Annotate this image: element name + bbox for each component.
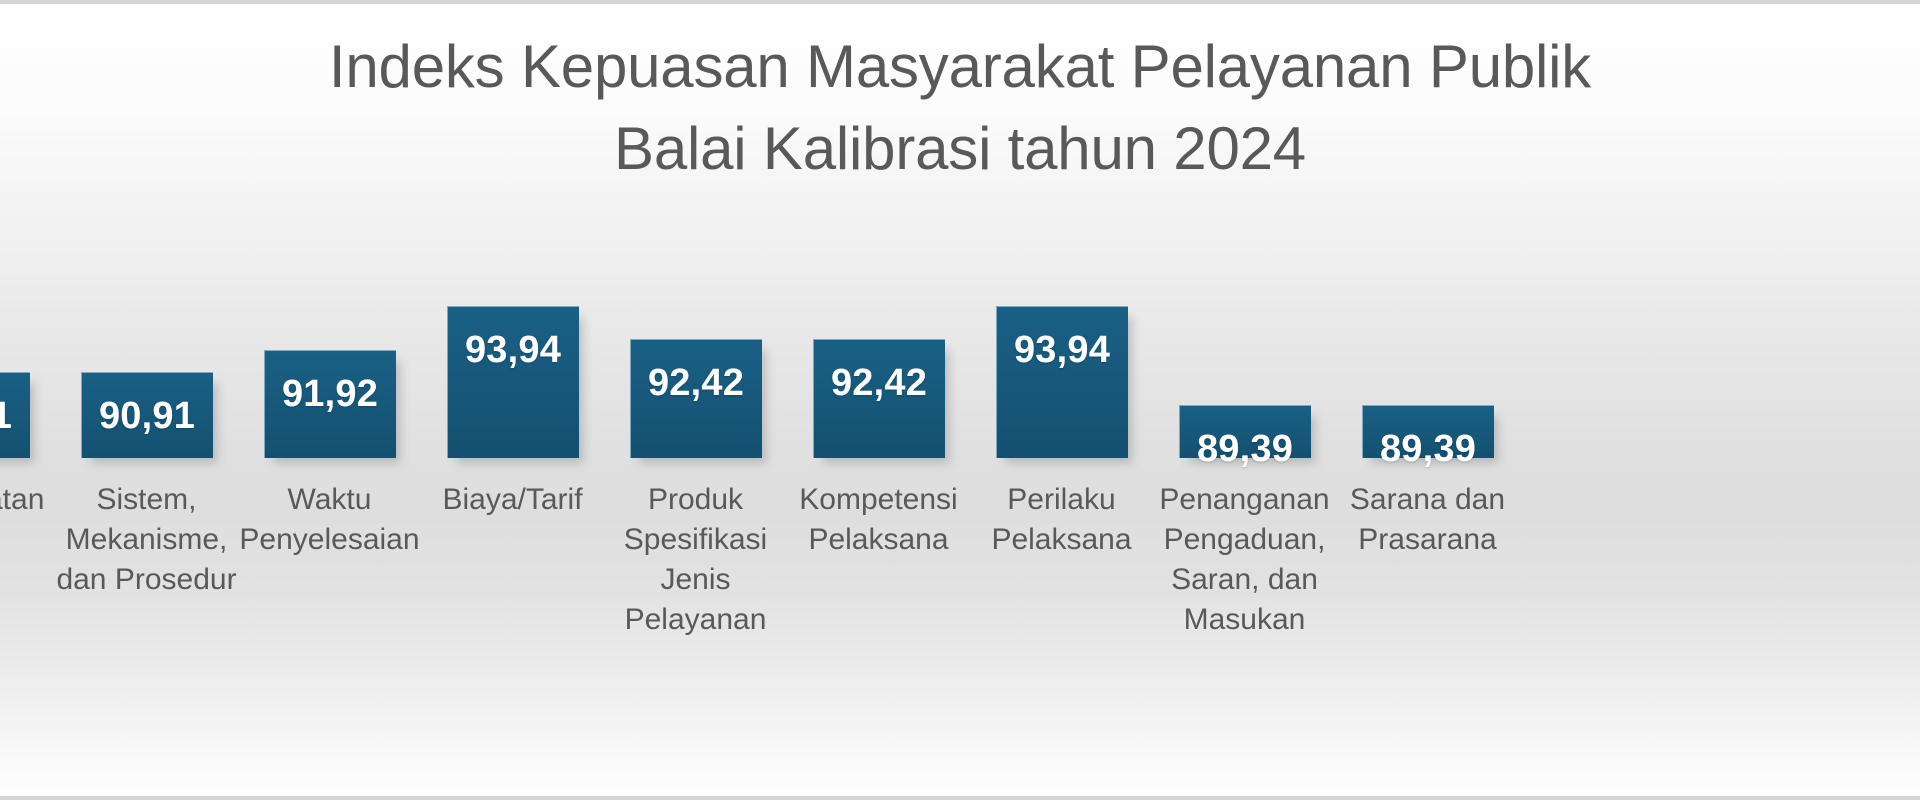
category-label-biaya-tarif: Biaya/Tarif xyxy=(421,458,604,640)
bar-slot-sarana-dan-prasarana: 89,39 xyxy=(1336,200,1519,458)
bar-value-label: 91,92 xyxy=(282,373,378,416)
bar-slot-sistem-mekanisme-prosedur: 90,91 xyxy=(55,200,238,458)
chart-title: Indeks Kepuasan Masyarakat Pelayanan Pub… xyxy=(0,26,1920,189)
bar-persyaratan[interactable]: 90,91 xyxy=(0,372,30,458)
bar-slot-produk-spesifikasi-jenis-pelayanan: 92,42 xyxy=(604,200,787,458)
bar-waktu-penyelesaian[interactable]: 91,92 xyxy=(264,350,396,458)
category-labels-row: Persyaratan Sistem, Mekanisme, dan Prose… xyxy=(0,458,1642,640)
category-label-perilaku-pelaksana: Perilaku Pelaksana xyxy=(970,458,1153,640)
category-label-sarana-dan-prasarana: Sarana dan Prasarana xyxy=(1336,458,1519,640)
bar-value-label: 90,91 xyxy=(99,395,195,438)
top-edge-rule xyxy=(0,0,1920,4)
bar-kompetensi-pelaksana[interactable]: 92,42 xyxy=(813,339,945,458)
bar-value-label: 92,42 xyxy=(648,362,744,405)
bar-slot-penanganan-pengaduan-saran-masukan: 89,39 xyxy=(1153,200,1336,458)
bar-slot-waktu-penyelesaian: 91,92 xyxy=(238,200,421,458)
bar-value-label: 93,94 xyxy=(1014,329,1110,372)
category-label-waktu-penyelesaian: Waktu Penyelesaian xyxy=(238,458,421,640)
bar-slot-kompetensi-pelaksana: 92,42 xyxy=(787,200,970,458)
bar-value-label: 90,91 xyxy=(0,395,12,438)
bar-sarana-dan-prasarana[interactable]: 89,39 xyxy=(1362,405,1494,458)
bar-slot-persyaratan: 90,91 xyxy=(0,200,55,458)
chart-canvas: Indeks Kepuasan Masyarakat Pelayanan Pub… xyxy=(0,0,1920,800)
bar-slot-perilaku-pelaksana: 93,94 xyxy=(970,200,1153,458)
bar-sistem-mekanisme-prosedur[interactable]: 90,91 xyxy=(81,372,213,458)
category-label-persyaratan: Persyaratan xyxy=(0,458,55,640)
category-label-sistem-mekanisme-prosedur: Sistem, Mekanisme, dan Prosedur xyxy=(55,458,238,640)
bar-biaya-tarif[interactable]: 93,94 xyxy=(447,306,579,458)
category-label-produk-spesifikasi-jenis-pelayanan: Produk Spesifikasi Jenis Pelayanan xyxy=(604,458,787,640)
bars-row: 90,91 90,91 91,92 93,94 92,4 xyxy=(0,200,1642,458)
category-label-penanganan-pengaduan-saran-masukan: Penanganan Pengaduan, Saran, dan Masukan xyxy=(1153,458,1336,640)
plot-area: 90,91 90,91 91,92 93,94 92,4 xyxy=(0,200,1642,800)
bar-slot-biaya-tarif: 93,94 xyxy=(421,200,604,458)
bar-penanganan-pengaduan-saran-masukan[interactable]: 89,39 xyxy=(1179,405,1311,458)
bar-value-label: 92,42 xyxy=(831,362,927,405)
bar-produk-spesifikasi-jenis-pelayanan[interactable]: 92,42 xyxy=(630,339,762,458)
bottom-edge-rule xyxy=(0,796,1920,800)
bar-value-label: 93,94 xyxy=(465,329,561,372)
bar-perilaku-pelaksana[interactable]: 93,94 xyxy=(996,306,1128,458)
category-label-kompetensi-pelaksana: Kompetensi Pelaksana xyxy=(787,458,970,640)
